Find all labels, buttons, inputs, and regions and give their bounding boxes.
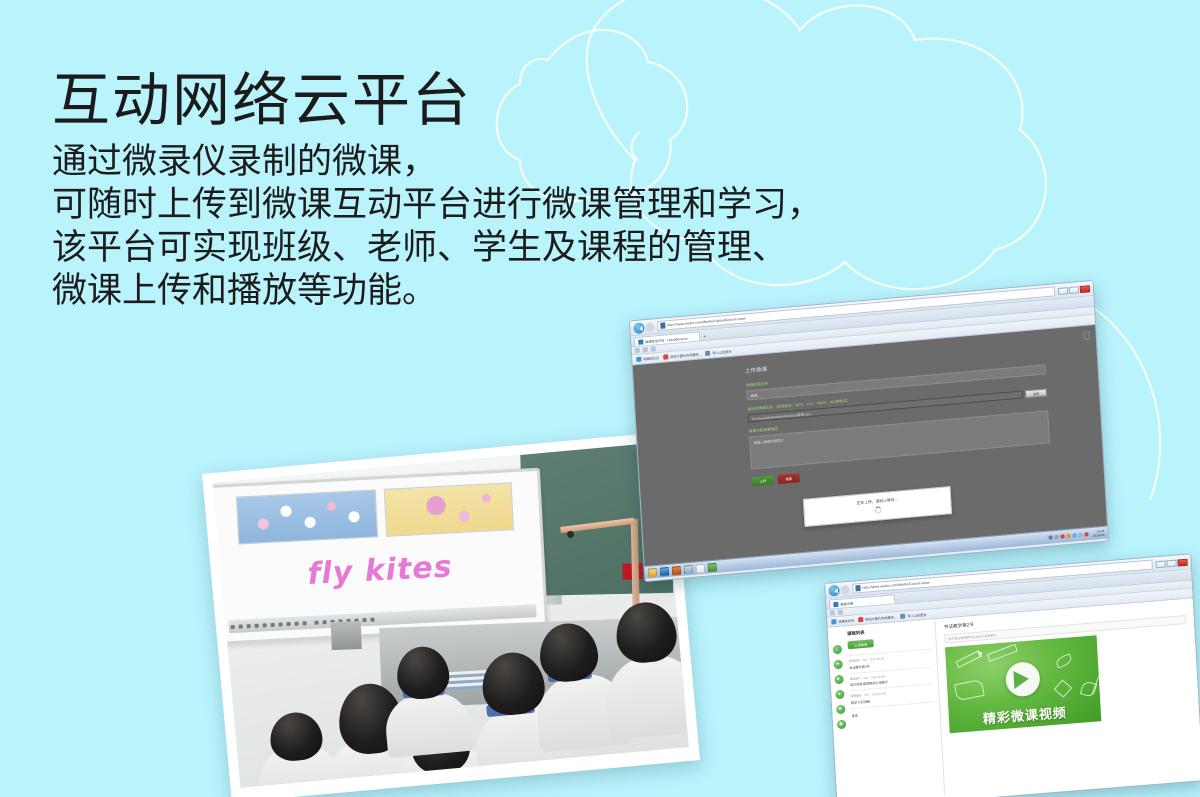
pencil-icon [955, 650, 981, 668]
desk-object [331, 621, 362, 650]
favorite-label: 收藏夹栏目 [643, 355, 659, 361]
share-icon[interactable]: ➦ [833, 660, 842, 670]
illustration-strip-blue [236, 489, 378, 544]
favorites-star-icon[interactable] [635, 348, 640, 353]
favorite-favicon-icon [705, 351, 710, 356]
window-controls[interactable] [1058, 285, 1090, 295]
reset-button[interactable]: 重置 [777, 473, 799, 484]
upload-course-button[interactable]: 上传微课 [847, 639, 873, 649]
maximize-button[interactable] [1069, 286, 1079, 294]
promo-slide: 互动网络云平台 通过微录仪录制的微课， 可随时上传到微课互动平台进行微课管理和学… [0, 0, 1200, 797]
course-sidebar: 课程列表 上传微课 课程编号：001 · 2015-06-08 书法教学第2节 … [844, 619, 946, 797]
address-bar-value: http://www.weike.com/WeiKe/Course.aspx [862, 580, 929, 589]
ruler-icon [987, 644, 1018, 662]
clock-date: 2015/6/8 [1093, 533, 1105, 538]
favorite-favicon-icon [831, 619, 836, 624]
favorite-item[interactable]: 导入以及更多 [900, 612, 926, 619]
back-icon[interactable] [633, 322, 645, 334]
photo-icon[interactable] [708, 562, 718, 572]
document-icon[interactable] [696, 563, 706, 573]
upload-progress-dialog: 正在上传，请耐心等待... [803, 486, 952, 527]
sidebar-heading: 课程列表 [847, 625, 930, 638]
favorite-item[interactable]: 网站大图片的收藏夹... [663, 351, 702, 359]
browse-button[interactable]: 浏览 [1025, 388, 1047, 398]
description-block: 通过微录仪录制的微课， 可随时上传到微课互动平台进行微课管理和学习， 该平台可实… [52, 140, 752, 312]
system-tray[interactable]: 16:24 2015/6/8 [1049, 529, 1105, 542]
forward-icon[interactable] [840, 584, 849, 594]
minimize-button[interactable] [1155, 560, 1165, 568]
favorites-star-icon[interactable] [830, 610, 835, 615]
video-page: ↓ ➦ ► ● ⚙ ◉ 课程列表 上传微课 课程编号：001 · 2015-06… [828, 598, 1200, 797]
address-bar-value: http://www.weike.com/WeiKe/UploadCourse.… [667, 316, 746, 327]
taskbar-clock[interactable]: 16:24 2015/6/8 [1093, 529, 1105, 538]
video-main: 书法教学第2节 本节课主要讲解书法运笔与结构要点。 精彩微课视频 [935, 598, 1200, 794]
media-icon[interactable] [660, 566, 670, 576]
classroom-photo-inner: fly kites [213, 442, 689, 788]
classroom-photo: fly kites [202, 431, 700, 797]
close-button[interactable] [1080, 285, 1090, 293]
new-tab-button[interactable]: + [703, 334, 706, 340]
loading-spinner-icon [874, 506, 881, 514]
book-icon [954, 679, 985, 701]
tab-favicon-icon [833, 601, 838, 606]
tools-icon[interactable] [651, 346, 656, 351]
app-icon[interactable] [672, 565, 682, 575]
headline-block: 互动网络云平台 通过微录仪录制的微课， 可随时上传到微课互动平台进行微课管理和学… [52, 70, 752, 312]
description-line: 微课上传和播放等功能。 [52, 269, 752, 312]
favorite-label: 网站大图片的收藏夹... [670, 351, 702, 359]
download-icon[interactable]: ↓ [832, 645, 841, 655]
forward-icon[interactable] [645, 322, 655, 332]
favorite-favicon-icon [663, 354, 668, 359]
tab-favicon-icon [638, 339, 643, 344]
favorite-favicon-icon [900, 614, 905, 619]
browser-tab-label: 微课互动平台 - UploadCourse [645, 335, 687, 344]
video-thumbnail[interactable]: 精彩微课视频 [945, 635, 1101, 733]
favorite-label: 网站大图片的收藏夹... [865, 614, 897, 622]
favorite-label: 导入以及更多 [712, 349, 731, 356]
user-icon[interactable]: ● [835, 690, 844, 700]
upload-page: 上传微课 微课标题名称 微课 请选择微课文件（支持格式：MP4、FLV、WMV、… [633, 325, 1107, 566]
whiteboard: fly kites [213, 468, 548, 645]
upload-progress-text: 正在上传，请耐心等待... [857, 498, 898, 507]
submit-button[interactable]: 上传 [752, 475, 774, 486]
video-caption: 精彩微课视频 [949, 699, 1102, 730]
play-button-icon[interactable] [1005, 661, 1041, 698]
favorite-item[interactable]: 收藏夹栏目 [831, 618, 854, 625]
favorite-favicon-icon [858, 617, 863, 622]
play-icon[interactable]: ► [834, 675, 843, 685]
close-button[interactable] [1177, 558, 1187, 566]
browser-tab-label: 微课详情 [840, 600, 853, 606]
camera-lens-icon [567, 531, 575, 539]
description-line: 可随时上传到微课互动平台进行微课管理和学习， [52, 183, 752, 226]
globe-icon [855, 585, 860, 591]
record-icon[interactable]: ◉ [836, 720, 845, 730]
folder-icon[interactable] [684, 564, 694, 574]
favorite-item[interactable]: 收藏夹栏目 [636, 355, 659, 362]
globe-icon [660, 322, 665, 328]
favorite-item[interactable]: 导入以及更多 [705, 349, 731, 356]
explorer-icon[interactable] [648, 567, 658, 577]
maximize-button[interactable] [1166, 559, 1176, 567]
minimize-button[interactable] [1058, 287, 1068, 295]
window-controls[interactable] [1155, 558, 1187, 568]
list-item-title: 更多 [851, 706, 934, 718]
whiteboard-text: fly kites [217, 545, 542, 597]
description-line: 该平台可实现班级、老师、学生及课程的管理、 [52, 226, 752, 269]
favorite-label: 导入以及更多 [907, 612, 926, 619]
favorite-item[interactable]: 网站大图片的收藏夹... [858, 614, 897, 622]
leaf-icon [1055, 653, 1074, 668]
page-corner-icon [1084, 331, 1090, 340]
home-icon[interactable] [838, 610, 843, 615]
settings-icon[interactable]: ⚙ [836, 705, 845, 715]
browser-window-video[interactable]: http://www.weike.com/WeiKe/Course.aspx 微… [824, 553, 1200, 797]
illustration-strip-yellow [384, 482, 514, 537]
browser-window-upload[interactable]: http://www.weike.com/WeiKe/UploadCourse.… [629, 280, 1109, 582]
favorite-label: 收藏夹栏目 [838, 618, 854, 624]
page-title: 互动网络云平台 [52, 70, 752, 132]
favorite-favicon-icon [636, 357, 641, 362]
home-icon[interactable] [643, 347, 648, 352]
diamond-icon [1054, 679, 1072, 697]
upload-form: 上传微课 微课标题名称 微课 请选择微课文件（支持格式：MP4、FLV、WMV、… [745, 341, 1051, 486]
description-line: 通过微录仪录制的微课， [52, 140, 752, 183]
back-icon[interactable] [828, 584, 840, 596]
